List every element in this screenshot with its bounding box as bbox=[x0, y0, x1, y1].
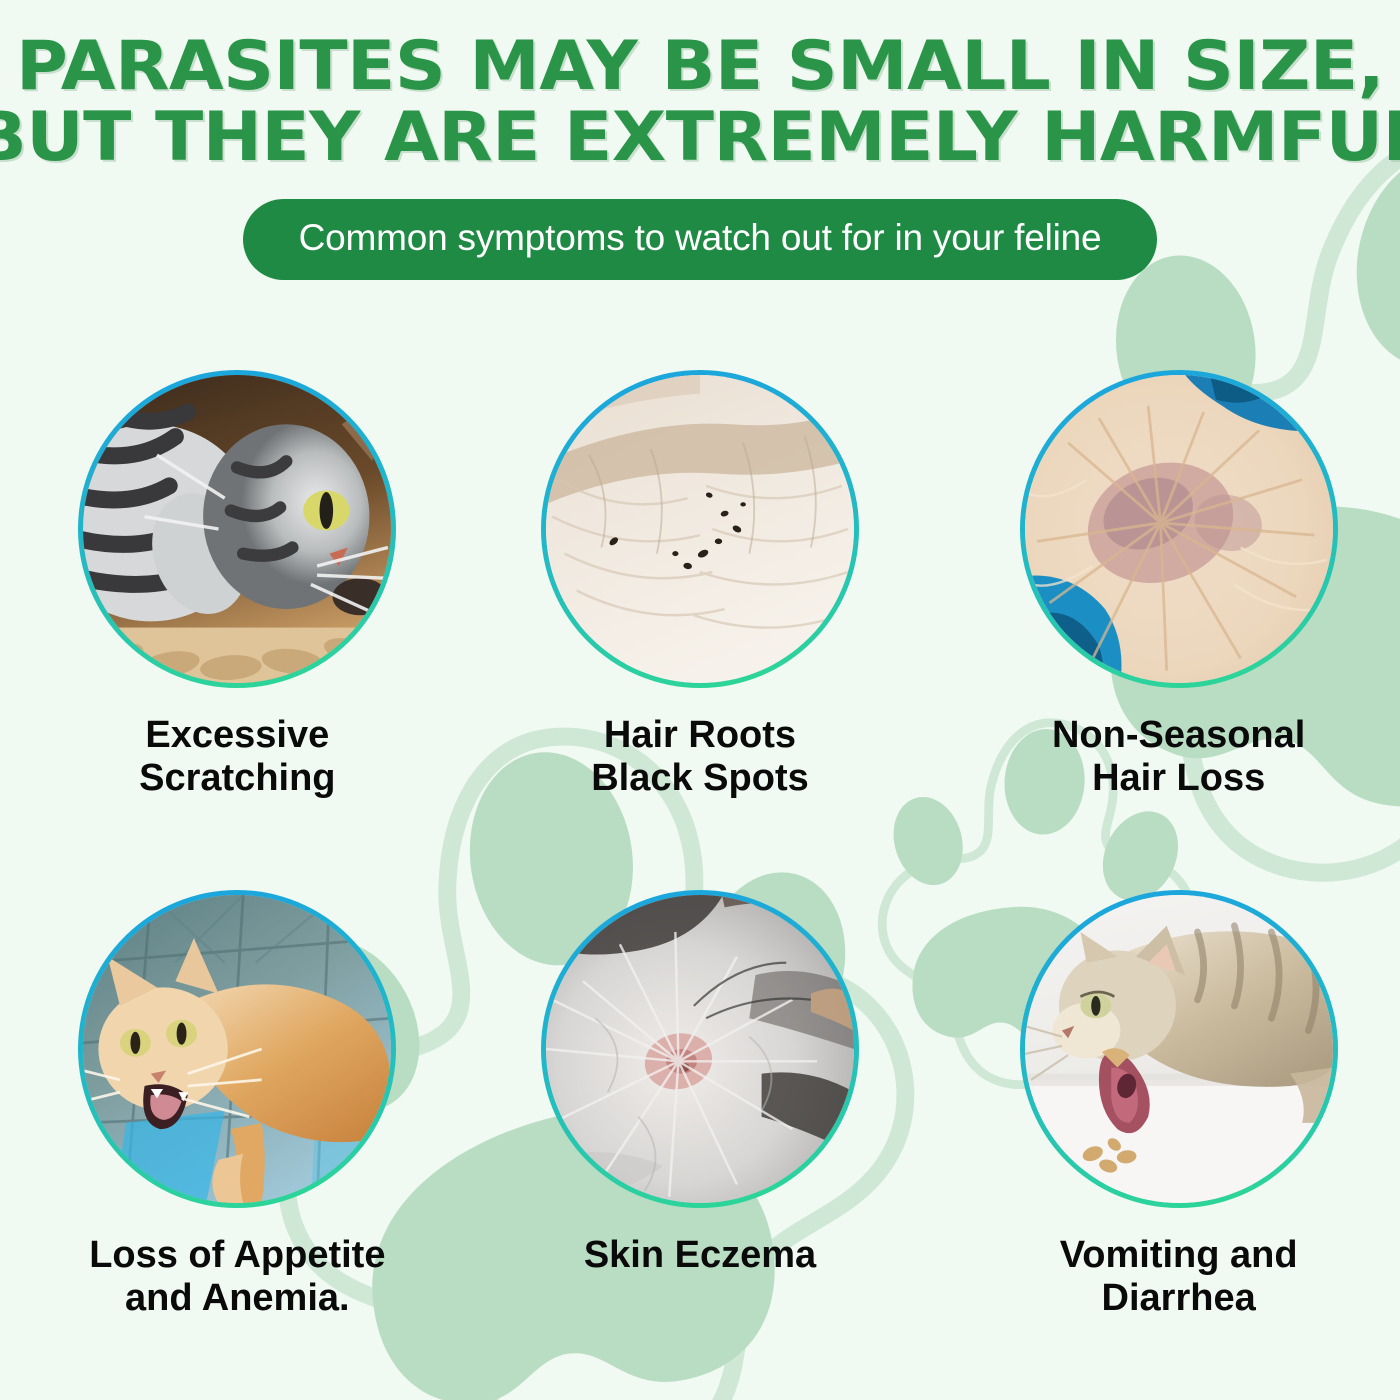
page-title-line-1: Parasites May Be Small In Size, bbox=[0, 34, 1400, 99]
symptom-card-excessive-scratching[interactable]: Excessive Scratching bbox=[0, 370, 467, 890]
symptom-label: Vomiting and Diarrhea bbox=[1060, 1234, 1298, 1319]
page-title: Parasites May Be Small In Size, But They… bbox=[0, 0, 1400, 171]
page-title-line-2: But They Are Extremely Harmful bbox=[0, 105, 1400, 170]
symptom-image-ring bbox=[1020, 370, 1338, 688]
symptom-label: Loss of Appetite and Anemia. bbox=[89, 1234, 385, 1319]
symptom-card-skin-eczema[interactable]: Skin Eczema bbox=[467, 890, 934, 1400]
symptom-label: Excessive Scratching bbox=[139, 714, 335, 799]
symptom-photo-loss-of-appetite-and-anemia bbox=[83, 895, 391, 1203]
symptom-card-vomiting-and-diarrhea[interactable]: Vomiting and Diarrhea bbox=[933, 890, 1400, 1400]
subtitle-banner: Common symptoms to watch out for in your… bbox=[243, 199, 1158, 280]
poster-header: Parasites May Be Small In Size, But They… bbox=[0, 0, 1400, 280]
symptom-label: Hair Roots Black Spots bbox=[591, 714, 809, 799]
symptom-photo-hair-roots-black-spots bbox=[546, 375, 854, 683]
symptom-label: Skin Eczema bbox=[584, 1234, 816, 1277]
symptom-photo-non-seasonal-hair-loss bbox=[1025, 375, 1333, 683]
symptom-photo-excessive-scratching bbox=[83, 375, 391, 683]
symptom-image-ring bbox=[78, 890, 396, 1208]
symptom-card-hair-roots-black-spots[interactable]: Hair Roots Black Spots bbox=[467, 370, 934, 890]
symptom-image-ring bbox=[1020, 890, 1338, 1208]
symptom-photo-skin-eczema bbox=[546, 895, 854, 1203]
symptom-card-non-seasonal-hair-loss[interactable]: Non-Seasonal Hair Loss bbox=[933, 370, 1400, 890]
symptom-image-ring bbox=[541, 370, 859, 688]
symptom-image-ring bbox=[78, 370, 396, 688]
symptom-card-loss-of-appetite-and-anemia[interactable]: Loss of Appetite and Anemia. bbox=[0, 890, 467, 1400]
symptom-label: Non-Seasonal Hair Loss bbox=[1052, 714, 1305, 799]
symptom-image-ring bbox=[541, 890, 859, 1208]
symptom-grid: Excessive Scratching bbox=[0, 370, 1400, 1400]
symptom-photo-vomiting-and-diarrhea bbox=[1025, 895, 1333, 1203]
